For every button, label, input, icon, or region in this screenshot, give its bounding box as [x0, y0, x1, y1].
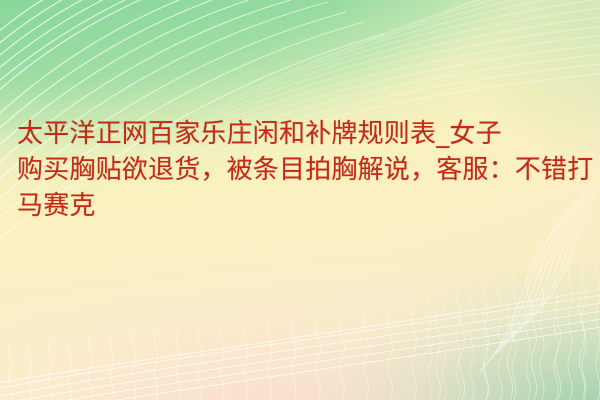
- banner-image: 太平洋正网百家乐庄闲和补牌规则表_女子 购买胸贴欲退货，被条目拍胸解说，客服：不…: [0, 0, 600, 400]
- wave-mesh-bottom: [8, 296, 584, 400]
- banner-headline: 太平洋正网百家乐庄闲和补牌规则表_女子 购买胸贴欲退货，被条目拍胸解说，客服：不…: [17, 116, 600, 224]
- headline-line-3: 马赛克: [17, 188, 600, 224]
- headline-line-2: 购买胸贴欲退货，被条目拍胸解说，客服：不错打: [17, 152, 600, 188]
- wave-mesh-bottom-right: [428, 256, 600, 400]
- wave-ribbon-bottom: [0, 286, 600, 400]
- headline-line-1: 太平洋正网百家乐庄闲和补牌规则表_女子: [17, 116, 600, 152]
